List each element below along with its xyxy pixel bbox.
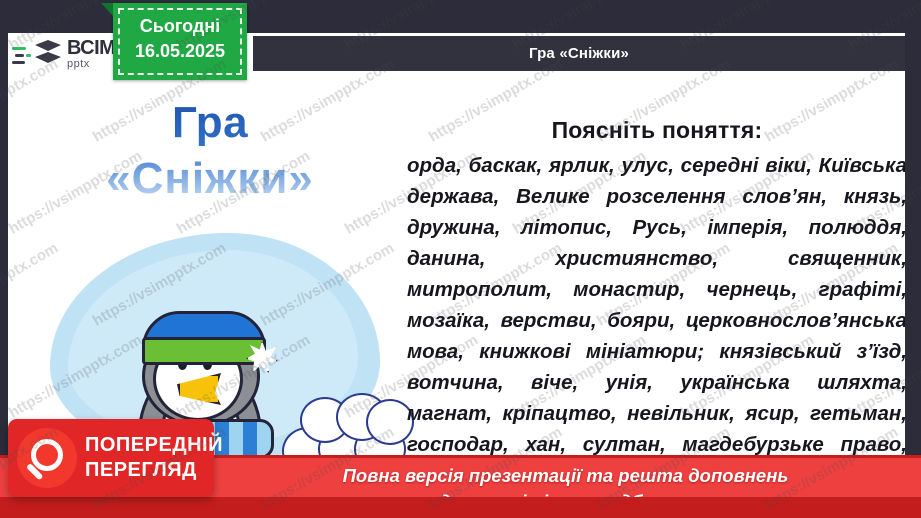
slide-title-bar: Гра «Сніжки» <box>253 36 905 71</box>
badge-label: Сьогодні <box>113 14 247 39</box>
wordart-line-2: «Сніжки» <box>30 151 390 207</box>
today-date-badge: Сьогодні 16.05.2025 <box>113 3 247 80</box>
penguin-hat-green-band <box>142 337 266 365</box>
speed-lines-icon <box>12 42 34 66</box>
brand-subtitle: pptx <box>67 59 115 70</box>
graduation-cap-icon <box>35 39 63 69</box>
wordart-line-1: Гра <box>172 98 248 147</box>
banner-bottom-strip <box>0 497 921 518</box>
slide-title-text: Гра «Сніжки» <box>529 45 629 62</box>
brand-name: ВСІМ <box>67 38 115 58</box>
badge-fold <box>101 3 113 16</box>
purchase-notice-line-1: Повна версія презентації та решта доповн… <box>220 463 911 489</box>
preview-badge: ПОПЕРЕДНІЙ ПЕРЕГЛЯД <box>8 419 214 497</box>
preview-badge-line-2: ПЕРЕГЛЯД <box>85 458 223 483</box>
slide-viewer: Гра «Сніжки» <box>0 0 921 518</box>
brand-wordmark: ВСІМ pptx <box>67 38 115 70</box>
badge-date: 16.05.2025 <box>113 39 247 64</box>
content-column: Поясніть поняття: орда, баскак, ярлик, у… <box>407 117 905 460</box>
preview-badge-line-1: ПОПЕРЕДНІЙ <box>85 433 223 458</box>
magnifier-icon <box>17 428 77 488</box>
concepts-paragraph: орда, баскак, ярлик, улус, середні віки,… <box>407 150 905 460</box>
badge-text: Сьогодні 16.05.2025 <box>113 14 247 64</box>
preview-badge-text: ПОПЕРЕДНІЙ ПЕРЕГЛЯД <box>85 433 223 483</box>
content-heading: Поясніть поняття: <box>407 117 905 144</box>
wordart-title: Гра «Сніжки» <box>30 95 390 207</box>
slide-canvas: Гра «Сніжки» <box>8 33 905 473</box>
illustration-area: Гра «Сніжки» <box>30 85 390 473</box>
